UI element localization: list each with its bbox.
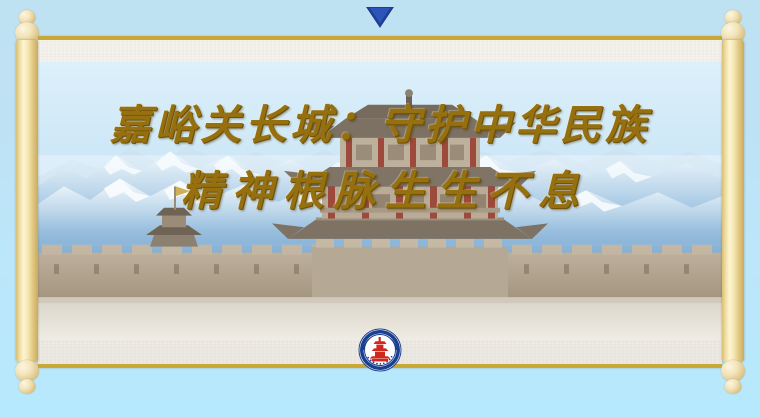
jiayuguan-photo xyxy=(38,62,722,340)
rod-finial-bottom-small-left xyxy=(19,379,36,394)
rod-finial-bottom-small-right xyxy=(725,379,742,394)
great-wall-right xyxy=(508,245,722,299)
banner-paper-panel: 嘉峪关长城：守护中华民族 精神根脉生生不息 xyxy=(38,36,722,368)
page-viewport: 嘉峪关长城：守护中华民族 精神根脉生生不息 xyxy=(0,0,760,418)
rod-shaft-left xyxy=(16,40,38,362)
scroll-rod-right[interactable] xyxy=(720,8,746,396)
great-wall-left xyxy=(38,245,338,299)
scroll-rod-left[interactable] xyxy=(14,8,40,396)
triangle-down-icon[interactable] xyxy=(366,7,394,28)
rod-shaft-right xyxy=(722,40,744,362)
jiayuguan-emblem-icon[interactable] xyxy=(358,328,402,372)
scroll-banner: 嘉峪关长城：守护中华民族 精神根脉生生不息 xyxy=(14,36,746,368)
